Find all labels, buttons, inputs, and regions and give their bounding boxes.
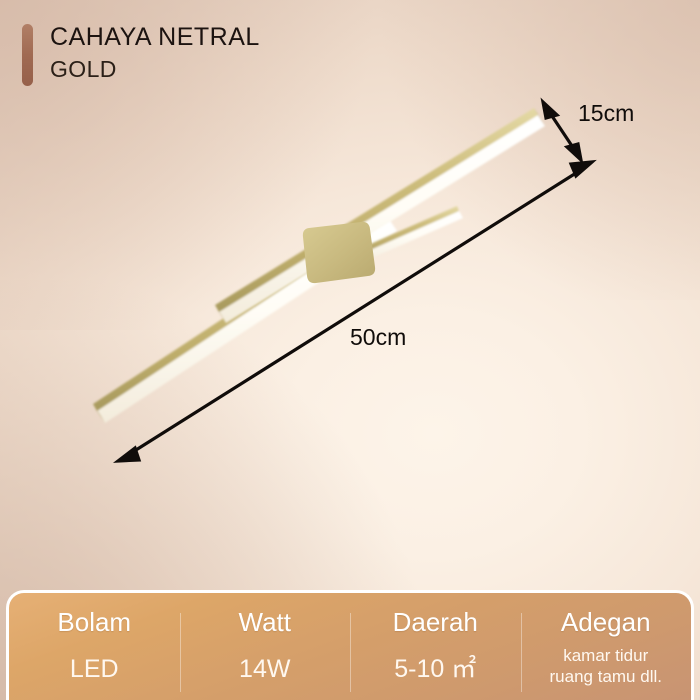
dimension-arrow-15cm [543,102,581,160]
dimension-label-length: 50cm [350,324,406,351]
spec-column-daerah: Daerah 5-10 ㎡ [350,593,521,700]
lamp-mount-plate [303,222,375,283]
spec-value-bolam: LED [70,654,119,684]
spec-column-watt: Watt 14W [180,593,351,700]
spec-head-adegan: Adegan [561,607,651,637]
spec-head-watt: Watt [239,607,291,637]
spec-bar-columns: Bolam LED Watt 14W Daerah 5-10 ㎡ Adegan … [9,593,691,700]
dimension-arrow-50cm [118,162,592,461]
spec-column-bolam: Bolam LED [9,593,180,700]
spec-head-bolam: Bolam [57,607,131,637]
lamp-bar-upper [215,108,545,323]
spec-head-daerah: Daerah [393,607,478,637]
product-image: CAHAYA NETRAL GOLD [0,0,700,700]
spec-bar: Bolam LED Watt 14W Daerah 5-10 ㎡ Adegan … [6,590,694,700]
spec-column-adegan: Adegan kamar tidurruang tamu dll. [521,593,692,700]
spec-value-watt: 14W [239,654,290,684]
dimension-label-width: 15cm [578,100,634,127]
spec-value-daerah: 5-10 ㎡ [394,654,476,684]
spec-value-adegan: kamar tidurruang tamu dll. [550,645,662,687]
